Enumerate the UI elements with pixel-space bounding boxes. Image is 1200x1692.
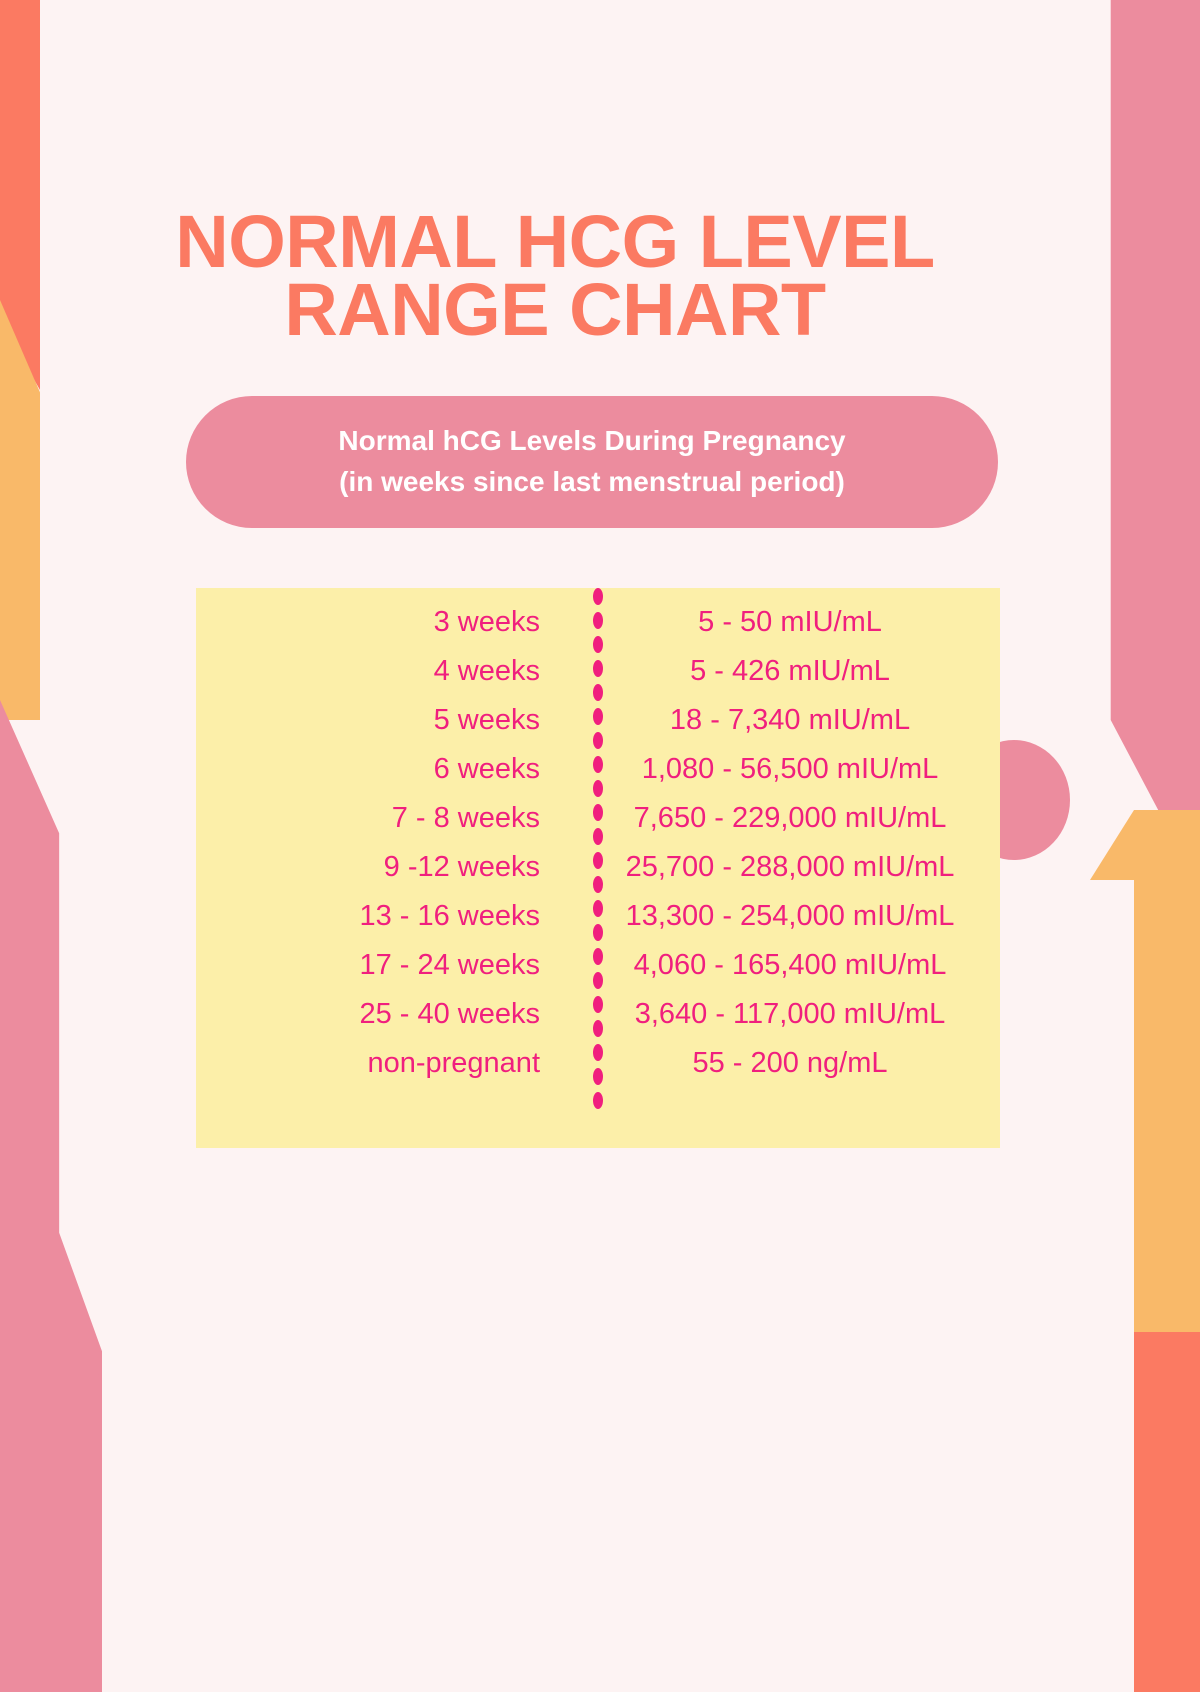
divider-dot [593,1044,603,1061]
table-cell-week: 17 - 24 weeks [196,949,598,982]
deco-right-pink-shape [1010,0,1200,900]
divider-dot [593,732,603,749]
deco-right-orange-shape [1090,820,1200,1350]
page-title-line-1: NORMAL HCG LEVEL [0,208,1110,276]
table-cell-value: 25,700 - 288,000 mIU/mL [598,851,1000,884]
divider-dot [593,828,603,845]
divider-dot [593,876,603,893]
divider-dot [593,660,603,677]
divider-dot [593,972,603,989]
deco-right-coral-shape [1090,1332,1200,1692]
divider-dot [593,780,603,797]
divider-dot [593,900,603,917]
divider-dot [593,804,603,821]
table-cell-week: 5 weeks [196,704,598,737]
subtitle-banner: Normal hCG Levels During Pregnancy (in w… [186,396,998,528]
divider-dot [593,852,603,869]
table-cell-value: 13,300 - 254,000 mIU/mL [598,900,1000,933]
table-cell-value: 7,650 - 229,000 mIU/mL [598,802,1000,835]
table-cell-value: 1,080 - 56,500 mIU/mL [598,753,1000,786]
table-cell-value: 3,640 - 117,000 mIU/mL [598,998,1000,1031]
dotted-divider [593,588,603,1116]
deco-left-orange-shape [0,300,40,720]
divider-dot [593,708,603,725]
deco-left-pink-shape-2 [0,1270,102,1692]
divider-dot [593,756,603,773]
divider-dot [593,948,603,965]
deco-left-pink-shape [0,700,102,1440]
table-cell-value: 18 - 7,340 mIU/mL [598,704,1000,737]
subtitle-line-1: Normal hCG Levels During Pregnancy [338,421,845,462]
deco-right-pink-shape-2 [1010,860,1200,920]
poster-canvas: NORMAL HCG LEVEL RANGE CHART Normal hCG … [0,0,1200,1692]
table-cell-value: 4,060 - 165,400 mIU/mL [598,949,1000,982]
divider-dot [593,612,603,629]
table-cell-week: 9 -12 weeks [196,851,598,884]
table-cell-week: non-pregnant [196,1047,598,1080]
divider-dot [593,588,603,605]
divider-dot [593,996,603,1013]
table-cell-week: 13 - 16 weeks [196,900,598,933]
page-title: NORMAL HCG LEVEL RANGE CHART [0,208,1110,344]
deco-right-orange-shape-top [1090,810,1200,880]
table-cell-week: 7 - 8 weeks [196,802,598,835]
table-cell-week: 6 weeks [196,753,598,786]
divider-dot [593,1068,603,1085]
table-cell-value: 5 - 50 mIU/mL [598,606,1000,639]
table-cell-week: 4 weeks [196,655,598,688]
divider-dot [593,636,603,653]
divider-dot [593,1020,603,1037]
subtitle-line-2: (in weeks since last menstrual period) [339,462,845,503]
divider-dot [593,924,603,941]
page-title-line-2: RANGE CHART [0,276,1110,344]
divider-dot [593,684,603,701]
table-cell-week: 3 weeks [196,606,598,639]
divider-dot [593,1092,603,1109]
hcg-level-table-card: 3 weeks5 - 50 mIU/mL4 weeks5 - 426 mIU/m… [196,588,1000,1148]
table-cell-week: 25 - 40 weeks [196,998,598,1031]
table-cell-value: 5 - 426 mIU/mL [598,655,1000,688]
table-cell-value: 55 - 200 ng/mL [598,1047,1000,1080]
